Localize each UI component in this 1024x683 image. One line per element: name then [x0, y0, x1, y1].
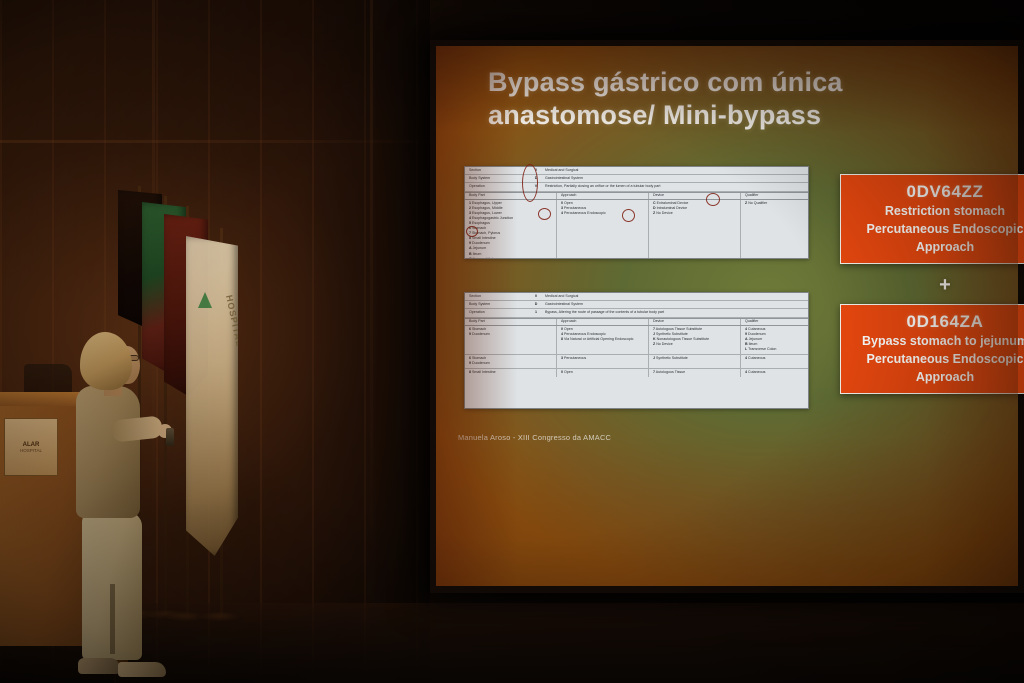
header-code: 0: [527, 168, 545, 173]
code-desc-line3: Approach: [845, 369, 1024, 386]
table-option: 4 Percutaneous Endoscopic: [561, 211, 648, 216]
cell-body-part: 6 Stomach9 Duodenum: [465, 326, 557, 354]
table-header-row: Operation 1 Bypass, Altering the route o…: [465, 309, 808, 317]
column-header-body-part: Body Part: [465, 193, 557, 199]
table-option: L Transverse Colon: [745, 347, 808, 352]
header-desc: Bypass, Altering the route of passage of…: [545, 310, 808, 315]
presentation-clicker: [166, 428, 174, 446]
hospital-logo-icon: [198, 292, 212, 308]
table-option: C Ileocecal Valve: [469, 257, 556, 259]
header-label: Body System: [465, 176, 527, 181]
code-desc-line1: Bypass stomach to jejunum: [845, 333, 1024, 350]
presenter-shoe-right: [118, 662, 166, 677]
header-desc: Gastrointestinal System: [545, 176, 808, 181]
table-column-headers: Body Part Approach Device Qualifier: [465, 192, 808, 200]
column-header-qualifier: Qualifier: [741, 193, 808, 199]
projection-screen: Bypass gástrico com única anastomose/ Mi…: [430, 40, 1024, 593]
table-option: 0 Open: [561, 370, 648, 375]
cell-qualifier: 4 Cutaneous9 DuodenumA JejunumB IleumL T…: [741, 326, 808, 354]
cell-approach: 0 Open4 Percutaneous Endoscopic8 Via Nat…: [557, 326, 649, 354]
header-code: V: [527, 184, 545, 189]
code-desc-line1: Restriction stomach: [845, 203, 1024, 220]
header-label: Section: [465, 294, 527, 299]
header-desc: Medical and Surgical: [545, 294, 808, 299]
table-row: 8 Small Intestine 0 Open 7 Autologous Ti…: [465, 369, 808, 377]
header-desc: Restriction, Partially closing an orific…: [545, 184, 808, 189]
cell-body-part: 8 Small Intestine: [465, 369, 557, 377]
column-header-device: Device: [649, 193, 741, 199]
code-desc-line2: Percutaneous Endoscopic: [845, 351, 1024, 368]
table-row: 6 Stomach9 Duodenum 3 Percutaneous J Syn…: [465, 355, 808, 369]
cell-qualifier: 4 Cutaneous: [741, 355, 808, 368]
table-option: 9 Duodenum: [469, 361, 556, 366]
cell-device: C Extraluminal DeviceD Intraluminal Devi…: [649, 200, 741, 259]
flag-base: [196, 612, 242, 622]
column-header-approach: Approach: [557, 319, 649, 325]
header-label: Body System: [465, 302, 527, 307]
code-desc-line3: Approach: [845, 239, 1024, 256]
slide-title: Bypass gástrico com única anastomose/ Mi…: [488, 66, 958, 132]
cell-qualifier: 4 Cutaneous: [741, 369, 808, 377]
slide-title-line2: anastomose/ Mini-bypass: [488, 99, 958, 132]
lectern-plaque-line2: HOSPITAL: [20, 448, 42, 453]
table-option: 9 Duodenum: [469, 332, 556, 337]
table-header-row: Section 0 Medical and Surgical: [465, 167, 808, 175]
header-label: Operation: [465, 310, 527, 315]
table-row: 6 Stomach9 Duodenum 0 Open4 Percutaneous…: [465, 326, 808, 355]
table-header-row: Operation V Restriction, Partially closi…: [465, 183, 808, 191]
table-header-row: Body System D Gastrointestinal System: [465, 301, 808, 309]
presenter-leg-gap: [110, 584, 115, 654]
table-row: 1 Esophagus, Upper2 Esophagus, Middle3 E…: [465, 200, 808, 259]
flag-cloth: HOSPITAL: [186, 236, 238, 556]
cell-body-part: 1 Esophagus, Upper2 Esophagus, Middle3 E…: [465, 200, 557, 259]
presenter-arm: [111, 415, 163, 442]
header-desc: Medical and Surgical: [545, 168, 808, 173]
cell-body-part: 6 Stomach9 Duodenum: [465, 355, 557, 368]
table-column-headers: Body Part Approach Device Qualifier: [465, 318, 808, 326]
cell-device: 7 Autologous Tissue: [649, 369, 741, 377]
table-option: Z No Device: [653, 342, 740, 347]
column-header-approach: Approach: [557, 193, 649, 199]
table-option: 7 Autologous Tissue: [653, 370, 740, 375]
cell-approach: 3 Percutaneous: [557, 355, 649, 368]
cell-device: 7 Autologous Tissue SubstituteJ Syntheti…: [649, 326, 741, 354]
lectern-plaque: ALAR HOSPITAL: [4, 418, 58, 476]
slide-canvas: Bypass gástrico com única anastomose/ Mi…: [436, 46, 1018, 586]
code-value: 0DV64ZZ: [845, 181, 1024, 202]
plus-symbol: +: [840, 274, 1024, 297]
slide-footer: Manuela Aroso - XIII Congresso da AMACC: [458, 433, 611, 442]
presenter-shoe-left: [78, 658, 120, 674]
cell-device: J Synthetic Substitute: [649, 355, 741, 368]
pcs-table-restriction: Section 0 Medical and Surgical Body Syst…: [464, 166, 809, 259]
table-header-row: Section 0 Medical and Surgical: [465, 293, 808, 301]
code-box-restriction: 0DV64ZZ Restriction stomach Percutaneous…: [840, 174, 1024, 264]
presenter: [74, 332, 180, 683]
table-header-row: Body System D Gastrointestinal System: [465, 175, 808, 183]
header-code: D: [527, 176, 545, 181]
table-option: 4 Cutaneous: [745, 356, 808, 361]
cell-approach: 0 Open3 Percutaneous4 Percutaneous Endos…: [557, 200, 649, 259]
auditorium-scene: HOSPITAL ALAR HOSPITAL Bypass gá: [0, 0, 1024, 683]
header-label: Section: [465, 168, 527, 173]
presenter-hair: [80, 332, 132, 390]
cell-approach: 0 Open: [557, 369, 649, 377]
header-code: 1: [527, 310, 545, 315]
code-value: 0D164ZA: [845, 311, 1024, 332]
column-header-qualifier: Qualifier: [741, 319, 808, 325]
table-option: Z No Device: [653, 211, 740, 216]
microphone: [24, 364, 72, 394]
table-option: 4 Cutaneous: [745, 370, 808, 375]
column-header-device: Device: [649, 319, 741, 325]
table-option: 8 Via Natural or Artificial Opening Endo…: [561, 337, 648, 342]
table-option: 8 Small Intestine: [469, 370, 556, 375]
slide-title-line1: Bypass gástrico com única: [488, 66, 958, 99]
header-label: Operation: [465, 184, 527, 189]
code-box-bypass: 0D164ZA Bypass stomach to jejunum Percut…: [840, 304, 1024, 394]
header-code: D: [527, 302, 545, 307]
header-desc: Gastrointestinal System: [545, 302, 808, 307]
table-option: J Synthetic Substitute: [653, 356, 740, 361]
table-option: 3 Percutaneous: [561, 356, 648, 361]
code-desc-line2: Percutaneous Endoscopic: [845, 221, 1024, 238]
presenter-torso: [76, 386, 140, 518]
header-code: 0: [527, 294, 545, 299]
pcs-table-bypass: Section 0 Medical and Surgical Body Syst…: [464, 292, 809, 409]
column-header-body-part: Body Part: [465, 319, 557, 325]
cell-qualifier: Z No Qualifier: [741, 200, 808, 259]
table-option: Z No Qualifier: [745, 201, 808, 206]
